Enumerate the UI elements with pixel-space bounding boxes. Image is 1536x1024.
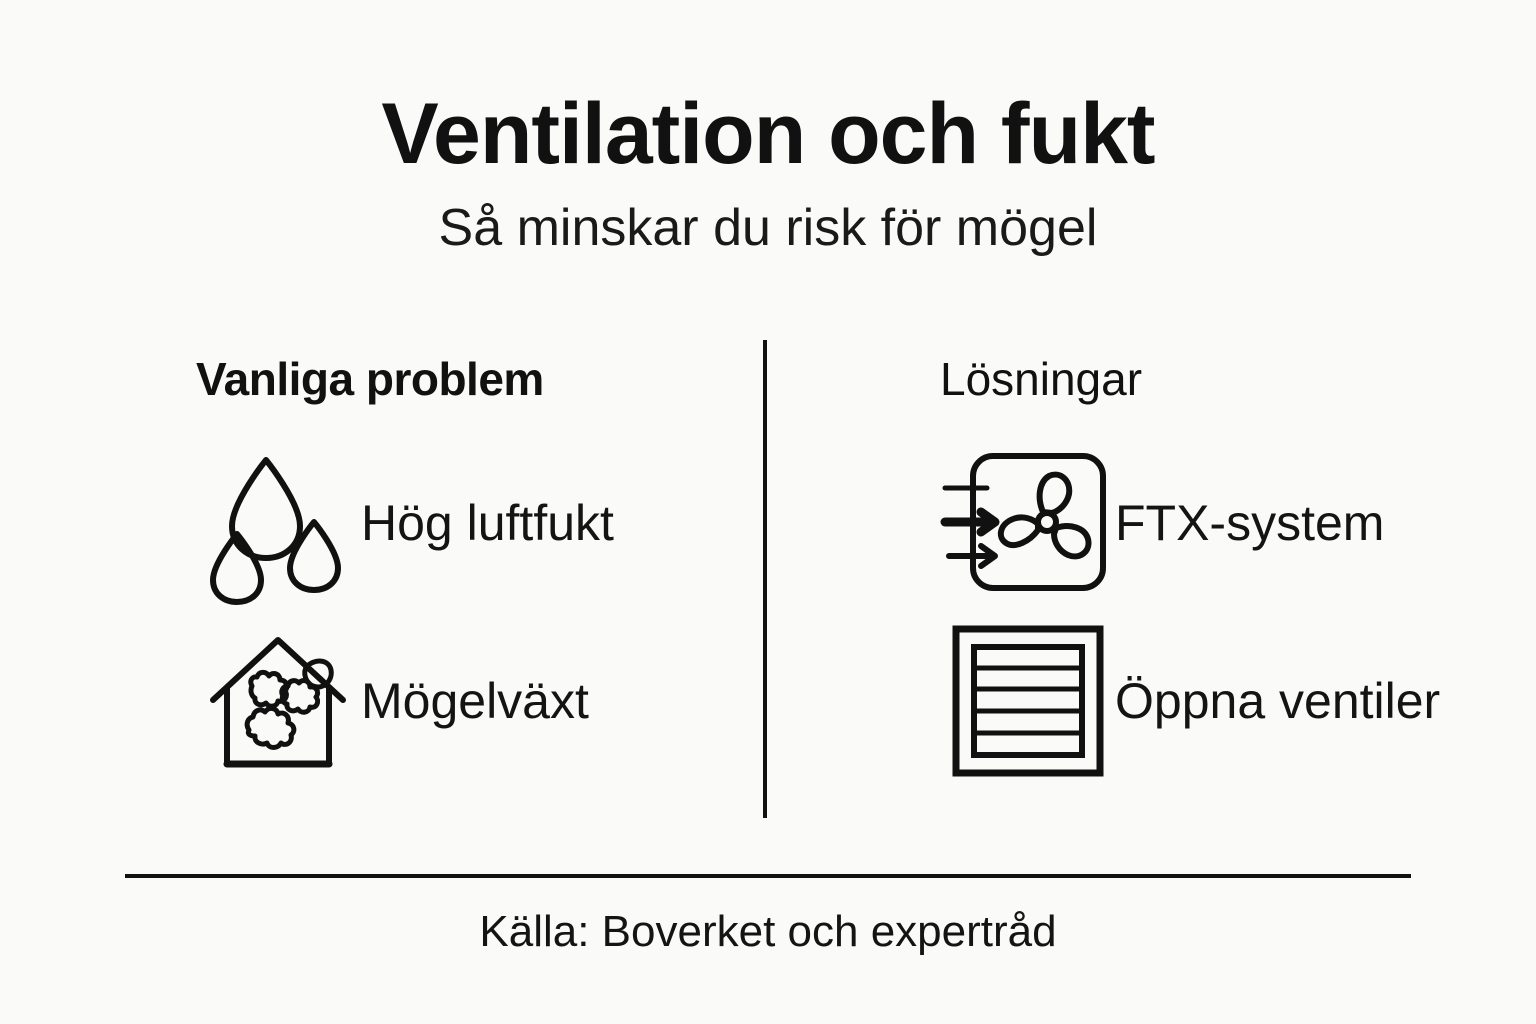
solution-list: FTX-system <box>940 448 1536 776</box>
problem-list: Hög luftfukt <box>196 448 765 776</box>
ftx-fan-unit-icon <box>940 448 1115 598</box>
list-item-label: Hög luftfukt <box>361 496 614 551</box>
louver-vent-icon <box>940 626 1115 776</box>
source-caption: Källa: Boverket och expertråd <box>0 906 1536 959</box>
water-droplets-icon <box>196 448 361 598</box>
page-subtitle: Så minskar du risk för mögel <box>0 197 1536 259</box>
page-title: Ventilation och fukt <box>0 90 1536 179</box>
column-solutions: Lösningar <box>765 340 1536 820</box>
infographic-poster: Ventilation och fukt Så minskar du risk … <box>0 0 1536 1024</box>
horizontal-divider <box>125 874 1411 878</box>
list-item-label: Öppna ventiler <box>1115 674 1440 729</box>
list-item: Mögelväxt <box>196 626 765 776</box>
list-item: Hög luftfukt <box>196 448 765 598</box>
header: Ventilation och fukt Så minskar du risk … <box>0 90 1536 260</box>
column-heading-solutions: Lösningar <box>940 340 1536 402</box>
columns-container: Vanliga problem Hög luftfukt <box>0 340 1536 820</box>
list-item: FTX-system <box>940 448 1536 598</box>
column-problems: Vanliga problem Hög luftfukt <box>0 340 765 820</box>
list-item: Öppna ventiler <box>940 626 1536 776</box>
column-heading-problems: Vanliga problem <box>196 340 765 402</box>
mold-house-icon <box>196 626 361 776</box>
list-item-label: Mögelväxt <box>361 674 589 729</box>
list-item-label: FTX-system <box>1115 496 1384 551</box>
